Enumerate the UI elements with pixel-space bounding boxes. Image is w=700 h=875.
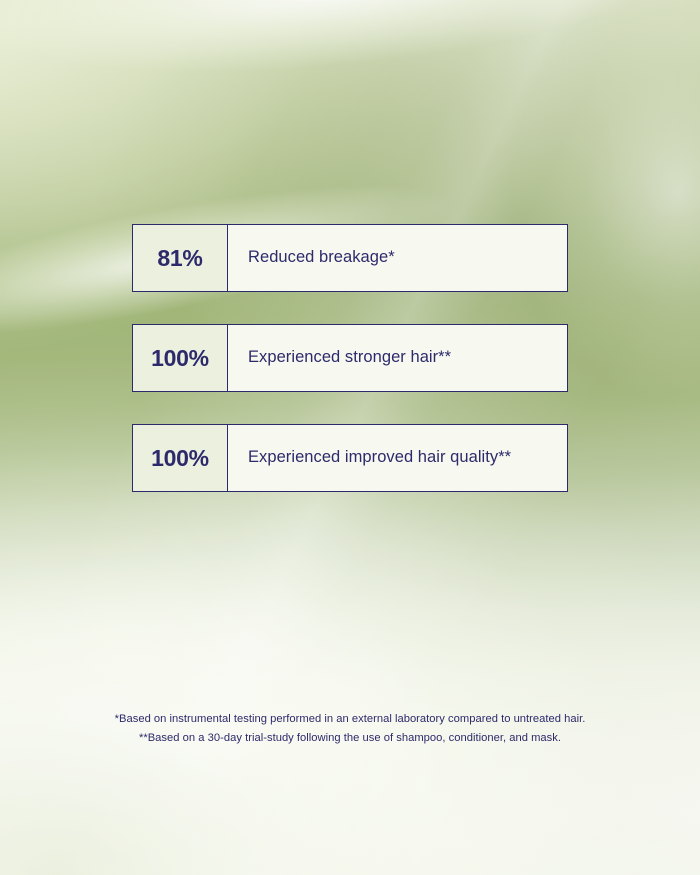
stat-value: 81% bbox=[157, 247, 202, 270]
stats-list: 81% Reduced breakage* 100% Experienced s… bbox=[132, 224, 568, 492]
stat-label: Experienced improved hair quality** bbox=[248, 448, 511, 468]
stat-row-improved-hair-quality: 100% Experienced improved hair quality** bbox=[132, 424, 568, 492]
stat-label-cell: Reduced breakage* bbox=[228, 225, 567, 291]
footnotes: *Based on instrumental testing performed… bbox=[0, 710, 700, 748]
stat-value-cell: 81% bbox=[133, 225, 228, 291]
stat-value-cell: 100% bbox=[133, 325, 228, 391]
stat-value-cell: 100% bbox=[133, 425, 228, 491]
footnote-single-asterisk: *Based on instrumental testing performed… bbox=[0, 710, 700, 729]
stat-value: 100% bbox=[151, 347, 209, 370]
stat-row-stronger-hair: 100% Experienced stronger hair** bbox=[132, 324, 568, 392]
stat-label-cell: Experienced stronger hair** bbox=[228, 325, 567, 391]
stats-infographic: 81% Reduced breakage* 100% Experienced s… bbox=[0, 0, 700, 875]
stat-label: Experienced stronger hair** bbox=[248, 348, 451, 368]
footnote-double-asterisk: **Based on a 30-day trial-study followin… bbox=[0, 729, 700, 748]
stat-label: Reduced breakage* bbox=[248, 248, 395, 268]
stat-value: 100% bbox=[151, 447, 209, 470]
stat-row-reduced-breakage: 81% Reduced breakage* bbox=[132, 224, 568, 292]
stat-label-cell: Experienced improved hair quality** bbox=[228, 425, 567, 491]
